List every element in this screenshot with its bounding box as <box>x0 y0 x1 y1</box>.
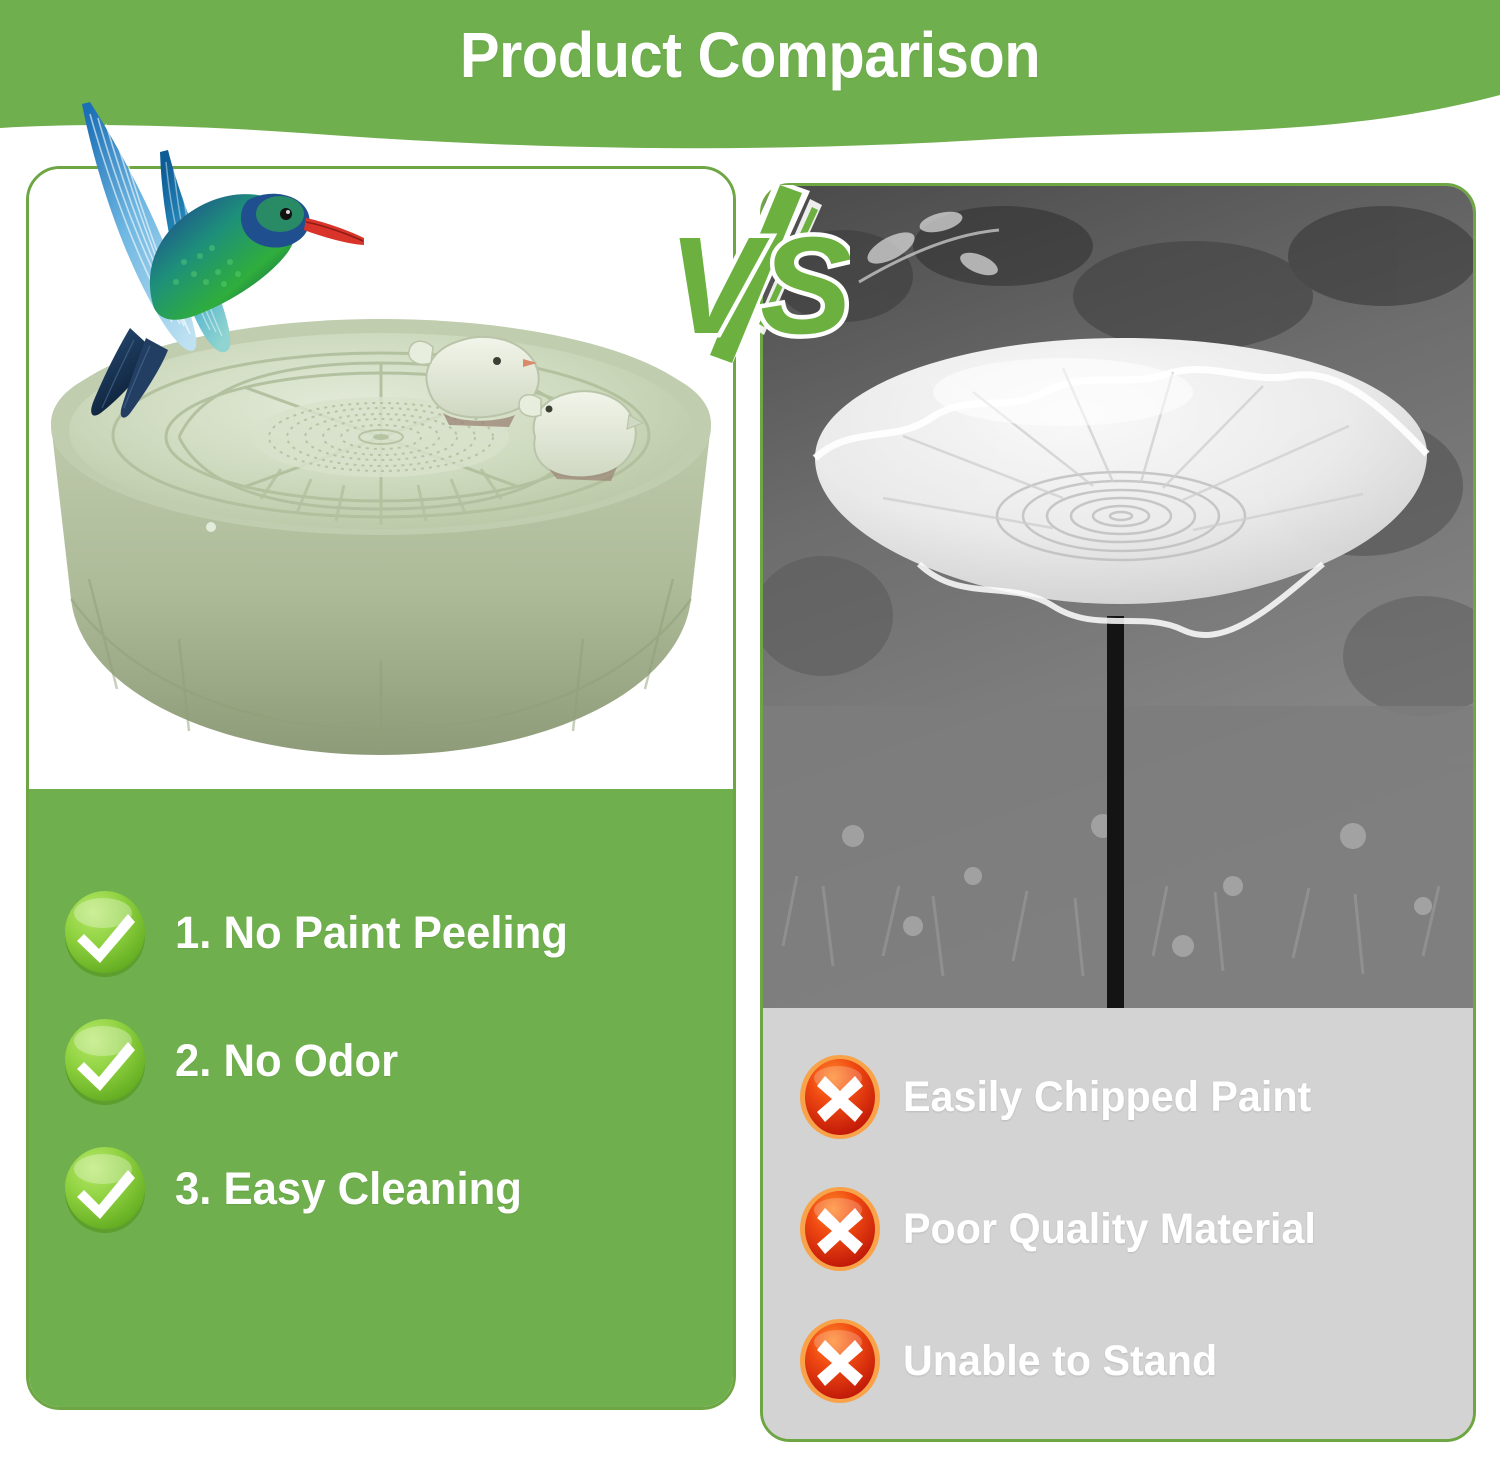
check-icon <box>59 1015 151 1107</box>
page-title: Product Comparison <box>53 18 1448 92</box>
pro-item-3-label: 3. Easy Cleaning <box>175 1163 522 1215</box>
hummingbird-illustration <box>34 96 364 446</box>
con-item-3-label: Unable to Stand <box>903 1337 1217 1386</box>
hummingbird-tail <box>91 328 168 418</box>
product-comparison-infographic: Product Comparison <box>0 0 1500 1463</box>
con-item-2-label: Poor Quality Material <box>903 1205 1316 1254</box>
cross-icon <box>797 1054 883 1140</box>
hummingbird-beak <box>304 218 364 245</box>
competitor-product-panel: Easily Chipped Paint <box>760 183 1476 1442</box>
pro-item-1-label: 1. No Paint Peeling <box>175 907 568 959</box>
pro-item-3: 3. Easy Cleaning <box>59 1125 719 1253</box>
check-icon <box>59 1143 151 1235</box>
cross-icon <box>797 1318 883 1404</box>
cross-icon <box>797 1186 883 1272</box>
con-item-3: Unable to Stand <box>797 1295 1457 1427</box>
con-item-1-label: Easily Chipped Paint <box>903 1073 1311 1122</box>
glass-birdbath-illustration <box>763 186 1473 1008</box>
con-item-1: Easily Chipped Paint <box>797 1031 1457 1163</box>
pro-item-2-label: 2. No Odor <box>175 1035 398 1087</box>
vs-label: VS <box>668 209 850 363</box>
pros-list: 1. No Paint Peeling <box>59 869 719 1253</box>
con-item-2: Poor Quality Material <box>797 1163 1457 1295</box>
cons-list: Easily Chipped Paint <box>797 1031 1457 1427</box>
check-icon <box>59 887 151 979</box>
pro-item-2: 2. No Odor <box>59 997 719 1125</box>
metal-stake <box>1107 616 1124 1008</box>
vs-badge: VS <box>660 185 850 365</box>
competitor-product-photo <box>763 186 1473 1008</box>
pro-item-1: 1. No Paint Peeling <box>59 869 719 997</box>
